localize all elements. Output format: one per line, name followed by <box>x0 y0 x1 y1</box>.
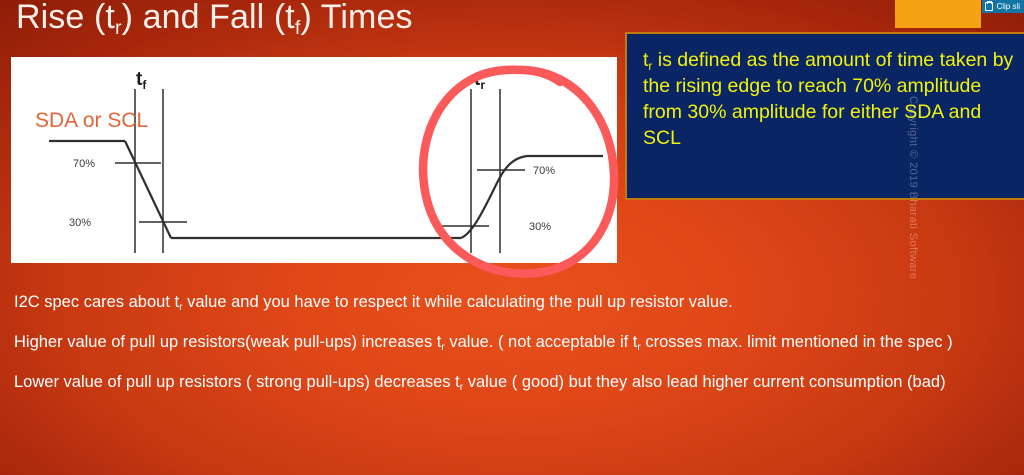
body-paragraph-3: Lower value of pull up resistors ( stron… <box>14 372 982 394</box>
p1-sub: r <box>179 302 182 313</box>
fall-time-label: tf <box>136 69 147 92</box>
body-paragraph-1: I2C spec cares about tr value and you ha… <box>14 292 982 314</box>
waveform-svg: SDA or SCL tf tr 70% 30% 70% 30% <box>11 57 617 263</box>
p2-c: crosses max. limit mentioned in the spec… <box>641 333 953 351</box>
p1-a: I2C spec cares about t <box>14 293 179 311</box>
p1-b: value and you have to respect it while c… <box>183 293 733 311</box>
p2-sub2: r <box>637 342 640 353</box>
fall-70-percent-label: 70% <box>73 158 95 170</box>
rise-time-label: tr <box>474 69 485 92</box>
page-title-prefix: Rise (t <box>16 0 115 36</box>
rise-30-percent-label: 30% <box>529 221 551 233</box>
page-title-sub-r: r <box>115 17 122 39</box>
body-copy: I2C spec cares about tr value and you ha… <box>14 292 982 393</box>
page-title-suffix: ) Times <box>300 0 412 36</box>
callout-line1-b: is defined as the amount of time <box>652 49 934 71</box>
p2-sub1: r <box>441 342 444 353</box>
page-title: Rise (tr) and Fall (tf) Times <box>16 0 413 37</box>
slide-canvas: Rise (tr) and Fall (tf) Times Clip sli <box>0 0 1024 475</box>
body-paragraph-2: Higher value of pull up resistors(weak p… <box>14 332 982 354</box>
definition-callout-box: tr is defined as the amount of time take… <box>625 32 1024 200</box>
waveform-diagram-panel: SDA or SCL tf tr 70% 30% 70% 30% <box>11 57 617 263</box>
clip-slide-button-label: Clip sli <box>996 0 1020 13</box>
p2-b: value. ( not acceptable if t <box>445 333 638 351</box>
waveform-falling-edge <box>125 141 171 238</box>
amber-accent-block <box>895 0 981 28</box>
p3-b: value ( good) but they also lead higher … <box>463 373 945 391</box>
page-title-mid: ) and Fall (t <box>122 0 295 36</box>
callout-text: tr is defined as the amount of time take… <box>643 48 1016 152</box>
signal-name-label: SDA or SCL <box>35 109 148 132</box>
callout-line1-sub: r <box>648 60 652 73</box>
clip-slide-icon <box>985 2 993 11</box>
p3-a: Lower value of pull up resistors ( stron… <box>14 373 460 391</box>
fall-30-percent-label: 30% <box>69 217 91 229</box>
p3-sub: r <box>460 382 463 393</box>
rise-70-percent-label: 70% <box>533 165 555 177</box>
page-title-sub-f: f <box>295 17 301 39</box>
p2-a: Higher value of pull up resistors(weak p… <box>14 333 441 351</box>
clip-slide-button[interactable]: Clip sli <box>982 0 1024 13</box>
